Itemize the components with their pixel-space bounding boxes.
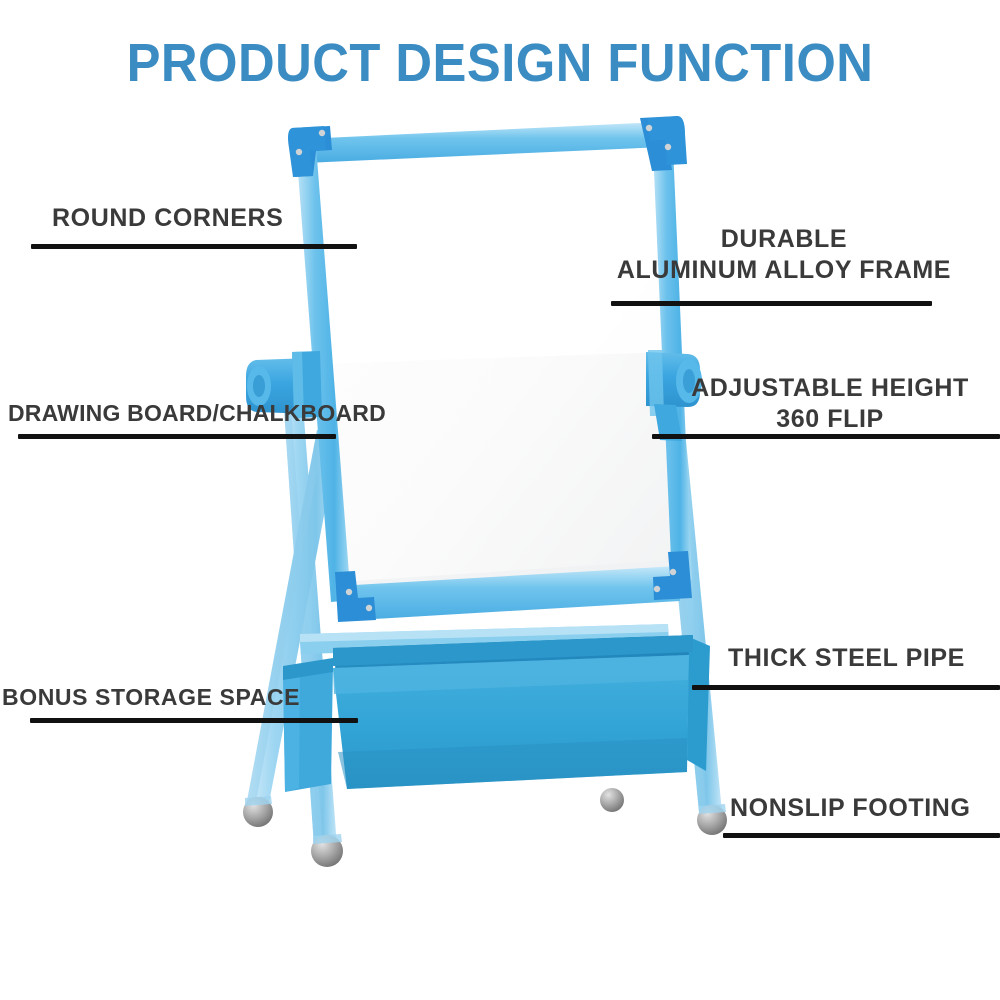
infographic-canvas: PRODUCT DESIGN FUNCTION [0,0,1000,1000]
foot-center-rear [600,788,624,812]
product-illustration [0,0,1000,1000]
cross-brace [300,624,669,654]
callout-nonslip-footing-line-1: NONSLIP FOOTING [730,793,971,824]
leader-line-bonus-storage [30,718,358,723]
callout-bonus-storage: BONUS STORAGE SPACE [2,683,300,712]
callout-nonslip-footing: NONSLIP FOOTING [730,793,971,824]
leader-line-nonslip-footing [723,833,1000,838]
corner-cap-top-left [292,126,332,177]
left-front-leg [246,430,340,808]
leader-line-round-corners [31,244,357,249]
caster-feet [243,788,727,867]
callout-aluminum-frame: DURABLE ALUMINUM ALLOY FRAME [600,224,968,286]
leader-line-thick-steel-pipe [692,685,1000,690]
right-front-leg [661,420,722,812]
leader-line-drawing-board [18,434,336,439]
callout-drawing-board-line-1: DRAWING BOARD/CHALKBOARD [8,399,386,428]
callout-aluminum-frame-line-2: ALUMINUM ALLOY FRAME [600,255,968,286]
leader-line-aluminum-frame [611,301,932,306]
callout-bonus-storage-line-1: BONUS STORAGE SPACE [2,683,300,712]
callout-drawing-board: DRAWING BOARD/CHALKBOARD [8,399,386,428]
whiteboard-panel [288,116,692,622]
callout-adjustable-height-line-2: 360 FLIP [676,404,984,435]
page-title: PRODUCT DESIGN FUNCTION [30,32,970,94]
storage-tray [283,635,710,792]
corner-cap-top-right [640,116,683,171]
foot-right-front [697,805,727,835]
callout-thick-steel-pipe-line-1: THICK STEEL PIPE [728,643,965,674]
corner-cap-bottom-right [653,551,692,600]
foot-left-front [311,835,343,867]
corner-cap-bottom-left [335,571,376,622]
leader-line-adjustable-height [652,434,1000,439]
callout-adjustable-height: ADJUSTABLE HEIGHT 360 FLIP [676,373,984,435]
foot-left-rear [243,797,273,827]
callout-adjustable-height-line-1: ADJUSTABLE HEIGHT [676,373,984,404]
callout-aluminum-frame-line-1: DURABLE [600,224,968,255]
callout-thick-steel-pipe: THICK STEEL PIPE [728,643,965,674]
callout-round-corners: ROUND CORNERS [52,203,283,234]
callout-round-corners-line-1: ROUND CORNERS [52,203,283,234]
